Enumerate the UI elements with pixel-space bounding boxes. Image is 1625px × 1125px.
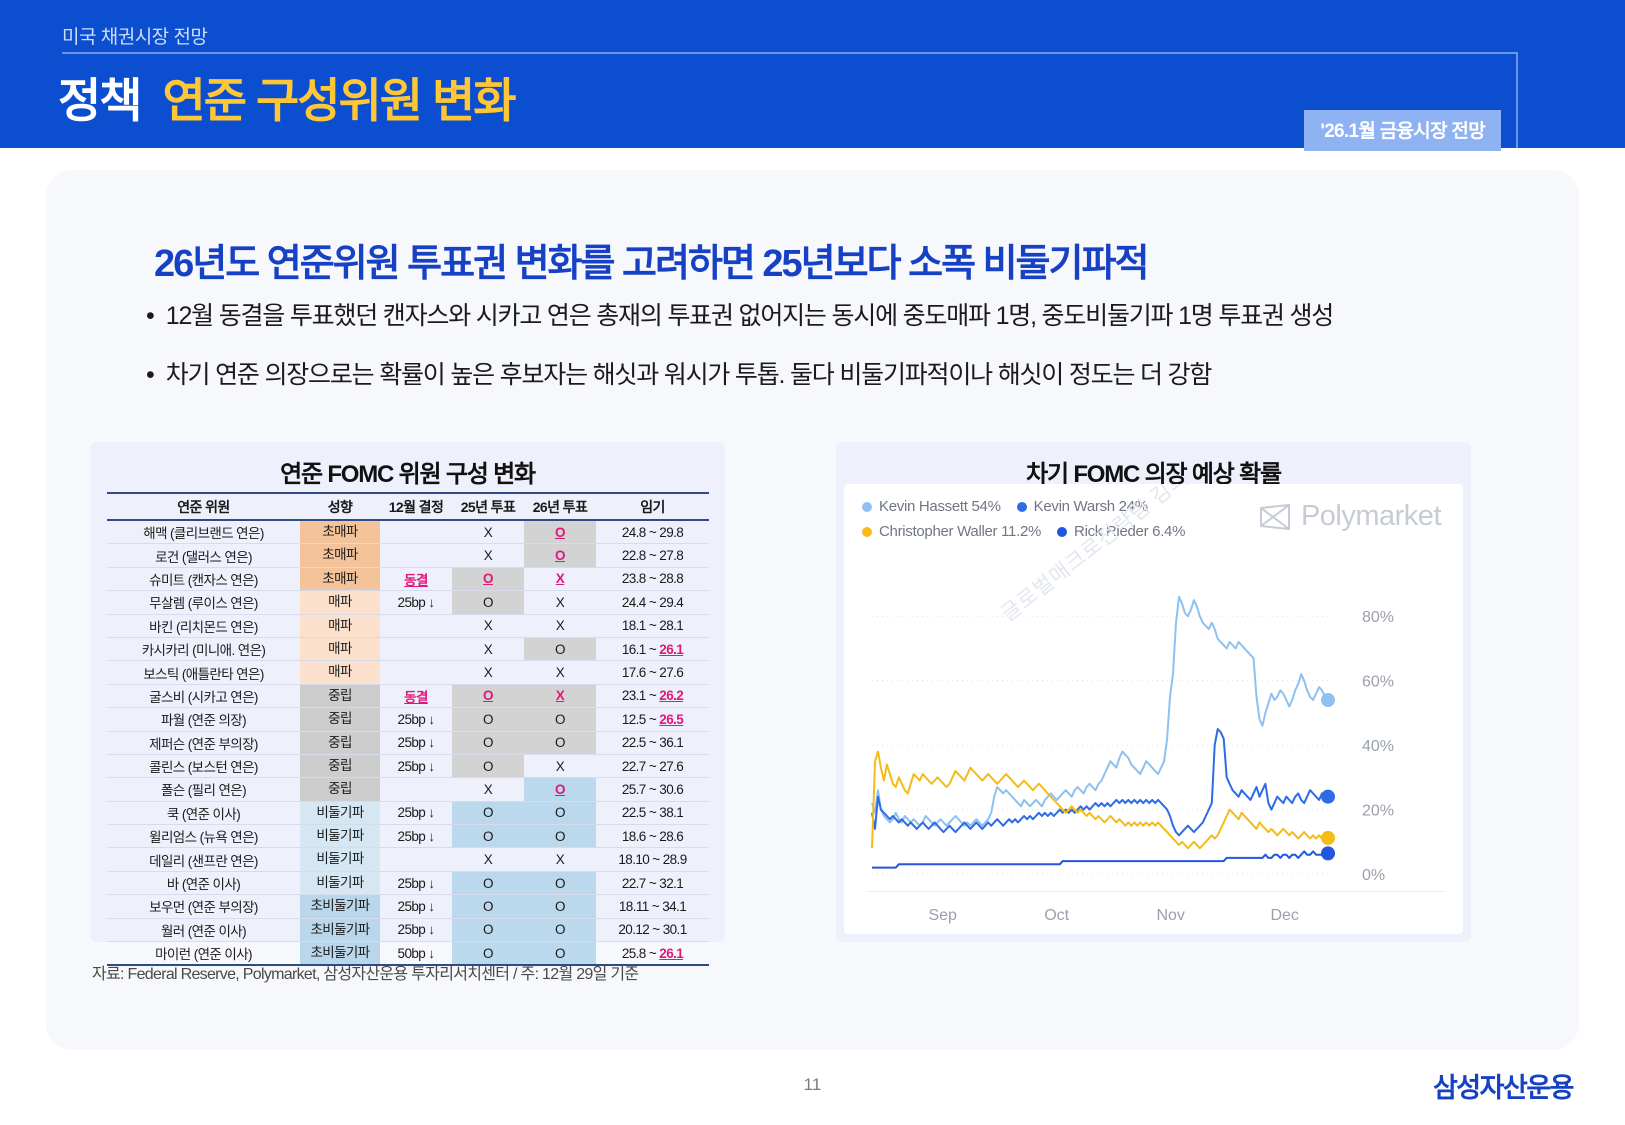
cell-december-decision xyxy=(380,661,452,684)
lead-headline: 26년도 연준위원 투표권 변화를 고려하면 25년보다 소폭 비둘기파적 xyxy=(154,232,1147,287)
cell-member-name: 굴스비 (시카고 연은) xyxy=(107,684,300,707)
table-row: 파월 (연준 의장)중립25bp ↓OO12.5 ~ 26.5 xyxy=(107,708,709,731)
cell-december-decision xyxy=(380,544,452,567)
cell-lean: 매파 xyxy=(300,637,380,660)
fomc-table-panel: 연준 FOMC 위원 구성 변화 연준 위원 성향 12월 결정 25년 투표 … xyxy=(90,442,725,942)
cell-lean: 매파 xyxy=(300,591,380,614)
series-line-kevin-hassett xyxy=(872,597,1328,826)
cell-vote-2025: O xyxy=(452,684,524,707)
cell-vote-2026: O xyxy=(524,801,596,824)
header-vertical-divider xyxy=(1516,52,1518,148)
legend-item-waller: Christopher Waller 11.2% xyxy=(862,523,1041,540)
polymarket-label: Polymarket xyxy=(1301,500,1441,533)
cell-term: 20.12 ~ 30.1 xyxy=(596,918,709,941)
lean-badge: 비둘기파 xyxy=(300,848,380,870)
cell-vote-2026: X xyxy=(524,614,596,637)
legend-dot-icon xyxy=(862,527,872,537)
series-line-christopher-waller xyxy=(872,752,1328,849)
cell-vote-2026: X xyxy=(524,848,596,871)
vote-highlight: O xyxy=(555,782,565,797)
cell-term: 18.6 ~ 28.6 xyxy=(596,825,709,848)
table-row: 쿡 (연준 이사)비둘기파25bp ↓OO22.5 ~ 38.1 xyxy=(107,801,709,824)
decision-highlight: 동결 xyxy=(404,573,428,588)
page-number: 11 xyxy=(0,1075,1625,1095)
table-row: 제퍼슨 (연준 부의장)중립25bp ↓OO22.5 ~ 36.1 xyxy=(107,731,709,754)
bullet-text: 12월 동결을 투표했던 캔자스와 시카고 연은 총재의 투표권 없어지는 동시… xyxy=(166,302,1333,330)
vote-highlight: X xyxy=(556,571,564,586)
lean-badge: 초비둘기파 xyxy=(300,895,380,917)
table-row: 바 (연준 이사)비둘기파25bp ↓OO22.7 ~ 32.1 xyxy=(107,871,709,894)
cell-term: 18.1 ~ 28.1 xyxy=(596,614,709,637)
cell-member-name: 폴슨 (필리 연은) xyxy=(107,778,300,801)
table-row: 데일리 (샌프란 연은)비둘기파XX18.10 ~ 28.9 xyxy=(107,848,709,871)
vote-highlight: X xyxy=(556,688,564,703)
cell-vote-2025: O xyxy=(452,918,524,941)
lean-badge: 매파 xyxy=(300,661,380,683)
slide-root: 미국 채권시장 전망 정책연준 구성위원 변화 '26.1월 금융시장 전망 2… xyxy=(0,0,1625,1125)
cell-december-decision: 25bp ↓ xyxy=(380,871,452,894)
probability-line-chart: 0%20%40%60%80%SepOctNovDec xyxy=(844,484,1463,934)
cell-lean: 중립 xyxy=(300,778,380,801)
cell-member-name: 해맥 (클리브랜드 연은) xyxy=(107,520,300,544)
table-row: 보스틱 (애틀란타 연은)매파XX17.6 ~ 27.6 xyxy=(107,661,709,684)
cell-vote-2026: O xyxy=(524,544,596,567)
cell-december-decision: 25bp ↓ xyxy=(380,801,452,824)
lean-badge: 중립 xyxy=(300,755,380,777)
cell-lean: 비둘기파 xyxy=(300,848,380,871)
cell-lean: 초매파 xyxy=(300,567,380,590)
slide-header: 미국 채권시장 전망 정책연준 구성위원 변화 '26.1월 금융시장 전망 xyxy=(0,0,1625,148)
bullet-list: • 12월 동결을 투표했던 캔자스와 시카고 연은 총재의 투표권 없어지는 … xyxy=(146,304,1333,388)
cell-vote-2026: O xyxy=(524,778,596,801)
header-subtitle: 연준 구성위원 변화 xyxy=(162,74,514,127)
header-category: 정책 xyxy=(58,74,140,127)
legend-dot-icon xyxy=(862,502,872,512)
x-axis-tick-label: Sep xyxy=(928,907,957,924)
chart-panel: 차기 FOMC 의장 예상 확률 Kevin Hassett 54% Kevin… xyxy=(836,442,1471,942)
table-body: 해맥 (클리브랜드 연은)초매파XO24.8 ~ 29.8로건 (댈러스 연은)… xyxy=(107,520,709,965)
cell-term: 24.8 ~ 29.8 xyxy=(596,520,709,544)
col-header-lean: 성향 xyxy=(300,493,380,520)
cell-member-name: 슈미트 (캔자스 연은) xyxy=(107,567,300,590)
x-axis-tick-label: Dec xyxy=(1270,907,1298,924)
cell-term: 22.5 ~ 38.1 xyxy=(596,801,709,824)
cell-vote-2025: O xyxy=(452,895,524,918)
cell-december-decision: 25bp ↓ xyxy=(380,918,452,941)
table-row: 무살렘 (루이스 연은)매파25bp ↓OX24.4 ~ 29.4 xyxy=(107,591,709,614)
header-kicker: 미국 채권시장 전망 xyxy=(62,22,207,49)
cell-term: 22.8 ~ 27.8 xyxy=(596,544,709,567)
cell-term: 17.6 ~ 27.6 xyxy=(596,661,709,684)
cell-term: 12.5 ~ 26.5 xyxy=(596,708,709,731)
cell-vote-2026: O xyxy=(524,637,596,660)
vote-highlight: O xyxy=(483,688,493,703)
table-row: 월러 (연준 이사)초비둘기파25bp ↓OO20.12 ~ 30.1 xyxy=(107,918,709,941)
cell-term: 24.4 ~ 29.4 xyxy=(596,591,709,614)
cell-lean: 비둘기파 xyxy=(300,825,380,848)
cell-december-decision: 25bp ↓ xyxy=(380,754,452,777)
cell-term: 18.10 ~ 28.9 xyxy=(596,848,709,871)
cell-member-name: 보우먼 (연준 부의장) xyxy=(107,895,300,918)
fomc-composition-table: 연준 위원 성향 12월 결정 25년 투표 26년 투표 임기 해맥 (클리브… xyxy=(107,492,709,966)
series-endpoint-christopher-waller xyxy=(1321,831,1335,845)
term-highlight: 26.1 xyxy=(659,642,683,657)
lean-badge: 비둘기파 xyxy=(300,825,380,847)
cell-vote-2026: X xyxy=(524,684,596,707)
bullet-dot-icon: • xyxy=(146,304,160,329)
company-logo: 삼성자산운용 xyxy=(1433,1066,1573,1105)
cell-term: 22.7 ~ 32.1 xyxy=(596,871,709,894)
series-endpoint-kevin-warsh xyxy=(1321,790,1335,804)
cell-lean: 초매파 xyxy=(300,544,380,567)
term-highlight: 26.2 xyxy=(659,688,683,703)
lean-badge: 매파 xyxy=(300,638,380,660)
x-axis-line xyxy=(866,891,1445,892)
col-header-term: 임기 xyxy=(596,493,709,520)
cell-member-name: 월러 (연준 이사) xyxy=(107,918,300,941)
table-row: 보우먼 (연준 부의장)초비둘기파25bp ↓OO18.11 ~ 34.1 xyxy=(107,895,709,918)
list-item: • 차기 연준 의장으로는 확률이 높은 후보자는 해싯과 워시가 투톱. 둘다… xyxy=(146,363,1333,388)
cell-term: 22.5 ~ 36.1 xyxy=(596,731,709,754)
cell-vote-2026: X xyxy=(524,567,596,590)
cell-vote-2026: X xyxy=(524,661,596,684)
lean-badge: 초매파 xyxy=(300,521,380,543)
cell-december-decision xyxy=(380,520,452,544)
vote-highlight: O xyxy=(555,525,565,540)
cell-december-decision: 동결 xyxy=(380,567,452,590)
col-header-vote-25: 25년 투표 xyxy=(452,493,524,520)
cell-member-name: 보스틱 (애틀란타 연은) xyxy=(107,661,300,684)
cell-lean: 중립 xyxy=(300,684,380,707)
table-row: 콜린스 (보스턴 연은)중립25bp ↓OX22.7 ~ 27.6 xyxy=(107,754,709,777)
cell-vote-2025: X xyxy=(452,544,524,567)
cell-vote-2025: O xyxy=(452,708,524,731)
cell-term: 23.1 ~ 26.2 xyxy=(596,684,709,707)
cell-term: 22.7 ~ 27.6 xyxy=(596,754,709,777)
legend-dot-icon xyxy=(1057,527,1067,537)
series-endpoint-rick-rieder xyxy=(1321,846,1335,860)
cell-vote-2026: O xyxy=(524,708,596,731)
x-axis-tick-label: Oct xyxy=(1044,907,1069,924)
cell-vote-2025: X xyxy=(452,614,524,637)
cell-lean: 비둘기파 xyxy=(300,871,380,894)
cell-member-name: 무살렘 (루이스 연은) xyxy=(107,591,300,614)
cell-member-name: 쿡 (연준 이사) xyxy=(107,801,300,824)
cell-lean: 중립 xyxy=(300,754,380,777)
cell-december-decision: 동결 xyxy=(380,684,452,707)
cell-vote-2026: O xyxy=(524,825,596,848)
cell-lean: 매파 xyxy=(300,614,380,637)
cell-vote-2026: X xyxy=(524,591,596,614)
lean-badge: 매파 xyxy=(300,615,380,637)
list-item: • 12월 동결을 투표했던 캔자스와 시카고 연은 총재의 투표권 없어지는 … xyxy=(146,304,1333,329)
table-row: 굴스비 (시카고 연은)중립동결OX23.1 ~ 26.2 xyxy=(107,684,709,707)
cell-lean: 매파 xyxy=(300,661,380,684)
cell-lean: 초매파 xyxy=(300,520,380,544)
cell-vote-2025: X xyxy=(452,661,524,684)
table-row: 폴슨 (필리 연은)중립XO25.7 ~ 30.6 xyxy=(107,778,709,801)
cell-term: 25.7 ~ 30.6 xyxy=(596,778,709,801)
cell-member-name: 파월 (연준 의장) xyxy=(107,708,300,731)
table-header-row: 연준 위원 성향 12월 결정 25년 투표 26년 투표 임기 xyxy=(107,493,709,520)
cell-december-decision xyxy=(380,637,452,660)
cell-vote-2025: X xyxy=(452,778,524,801)
decision-highlight: 동결 xyxy=(404,690,428,705)
term-highlight: 26.5 xyxy=(659,712,683,727)
table-row: 슈미트 (캔자스 연은)초매파동결OX23.8 ~ 28.8 xyxy=(107,567,709,590)
cell-december-decision: 25bp ↓ xyxy=(380,708,452,731)
polymarket-brand: Polymarket xyxy=(1259,500,1441,533)
source-note: 자료: Federal Reserve, Polymarket, 삼성자산운용 … xyxy=(92,960,638,984)
y-axis-tick-label: 40% xyxy=(1362,738,1394,755)
lean-badge: 중립 xyxy=(300,732,380,754)
lean-badge: 비둘기파 xyxy=(300,802,380,824)
lean-badge: 매파 xyxy=(300,591,380,613)
bullet-dot-icon: • xyxy=(146,363,160,388)
y-axis-tick-label: 20% xyxy=(1362,803,1394,820)
cell-vote-2025: O xyxy=(452,825,524,848)
page-title: 정책연준 구성위원 변화 xyxy=(58,62,515,131)
cell-vote-2025: O xyxy=(452,754,524,777)
lean-badge: 초매파 xyxy=(300,544,380,566)
col-header-dec-vote: 12월 결정 xyxy=(380,493,452,520)
table-row: 해맥 (클리브랜드 연은)초매파XO24.8 ~ 29.8 xyxy=(107,520,709,544)
vote-highlight: O xyxy=(555,548,565,563)
content-card: 26년도 연준위원 투표권 변화를 고려하면 25년보다 소폭 비둘기파적 • … xyxy=(46,170,1579,1050)
cell-lean: 초비둘기파 xyxy=(300,895,380,918)
cell-vote-2026: O xyxy=(524,918,596,941)
cell-vote-2025: O xyxy=(452,871,524,894)
cell-lean: 중립 xyxy=(300,708,380,731)
table-row: 로건 (댈러스 연은)초매파XO22.8 ~ 27.8 xyxy=(107,544,709,567)
cell-vote-2025: O xyxy=(452,801,524,824)
cell-december-decision xyxy=(380,848,452,871)
report-badge: '26.1월 금융시장 전망 xyxy=(1304,110,1501,151)
cell-december-decision xyxy=(380,778,452,801)
table-row: 카시카리 (미니애. 연은)매파XO16.1 ~ 26.1 xyxy=(107,637,709,660)
legend-label: Kevin Hassett 54% xyxy=(879,498,1001,515)
cell-member-name: 제퍼슨 (연준 부의장) xyxy=(107,731,300,754)
cell-vote-2025: X xyxy=(452,848,524,871)
fomc-table-title: 연준 FOMC 위원 구성 변화 xyxy=(90,454,725,489)
y-axis-tick-label: 0% xyxy=(1362,867,1385,884)
cell-december-decision: 25bp ↓ xyxy=(380,895,452,918)
col-header-member: 연준 위원 xyxy=(107,493,300,520)
y-axis-tick-label: 60% xyxy=(1362,674,1394,691)
cell-member-name: 카시카리 (미니애. 연은) xyxy=(107,637,300,660)
legend-label: Christopher Waller 11.2% xyxy=(879,523,1041,540)
cell-vote-2025: X xyxy=(452,637,524,660)
cell-vote-2025: O xyxy=(452,731,524,754)
cell-december-decision: 25bp ↓ xyxy=(380,825,452,848)
cell-member-name: 데일리 (샌프란 연은) xyxy=(107,848,300,871)
cell-member-name: 바 (연준 이사) xyxy=(107,871,300,894)
term-highlight: 26.1 xyxy=(659,946,683,961)
cell-member-name: 콜린스 (보스턴 연은) xyxy=(107,754,300,777)
cell-vote-2026: O xyxy=(524,520,596,544)
lean-badge: 중립 xyxy=(300,708,380,730)
chart-canvas: Kevin Hassett 54% Kevin Warsh 24% Christ… xyxy=(844,484,1463,934)
cell-vote-2026: X xyxy=(524,754,596,777)
legend-item-hassett: Kevin Hassett 54% xyxy=(862,498,1001,515)
cell-term: 16.1 ~ 26.1 xyxy=(596,637,709,660)
cell-vote-2026: O xyxy=(524,871,596,894)
series-line-rick-rieder xyxy=(872,851,1328,867)
cell-december-decision: 25bp ↓ xyxy=(380,591,452,614)
table-row: 바킨 (리치몬드 연은)매파XX18.1 ~ 28.1 xyxy=(107,614,709,637)
col-header-vote-26: 26년 투표 xyxy=(524,493,596,520)
cell-lean: 중립 xyxy=(300,731,380,754)
lean-badge: 중립 xyxy=(300,685,380,707)
cell-vote-2025: X xyxy=(452,520,524,544)
cell-term: 23.8 ~ 28.8 xyxy=(596,567,709,590)
table-row: 윌리엄스 (뉴욕 연은)비둘기파25bp ↓OO18.6 ~ 28.6 xyxy=(107,825,709,848)
bullet-text: 차기 연준 의장으로는 확률이 높은 후보자는 해싯과 워시가 투톱. 둘다 비… xyxy=(166,361,1211,389)
cell-december-decision xyxy=(380,614,452,637)
series-endpoint-kevin-hassett xyxy=(1321,693,1335,707)
cell-vote-2026: O xyxy=(524,895,596,918)
lean-badge: 초비둘기파 xyxy=(300,919,380,941)
vote-highlight: O xyxy=(483,571,493,586)
cell-vote-2025: O xyxy=(452,567,524,590)
x-axis-tick-label: Nov xyxy=(1156,907,1184,924)
cell-member-name: 로건 (댈러스 연은) xyxy=(107,544,300,567)
cell-lean: 초비둘기파 xyxy=(300,918,380,941)
cell-lean: 비둘기파 xyxy=(300,801,380,824)
lean-badge: 초매파 xyxy=(300,568,380,590)
cell-vote-2026: O xyxy=(524,731,596,754)
cell-term: 18.11 ~ 34.1 xyxy=(596,895,709,918)
cell-december-decision: 25bp ↓ xyxy=(380,731,452,754)
y-axis-tick-label: 80% xyxy=(1362,609,1394,626)
cell-vote-2025: O xyxy=(452,591,524,614)
cell-member-name: 윌리엄스 (뉴욕 연은) xyxy=(107,825,300,848)
lean-badge: 중립 xyxy=(300,778,380,800)
header-divider xyxy=(62,52,1517,54)
polymarket-logo-icon xyxy=(1259,504,1291,530)
cell-member-name: 바킨 (리치몬드 연은) xyxy=(107,614,300,637)
legend-dot-icon xyxy=(1017,502,1027,512)
lean-badge: 비둘기파 xyxy=(300,872,380,894)
